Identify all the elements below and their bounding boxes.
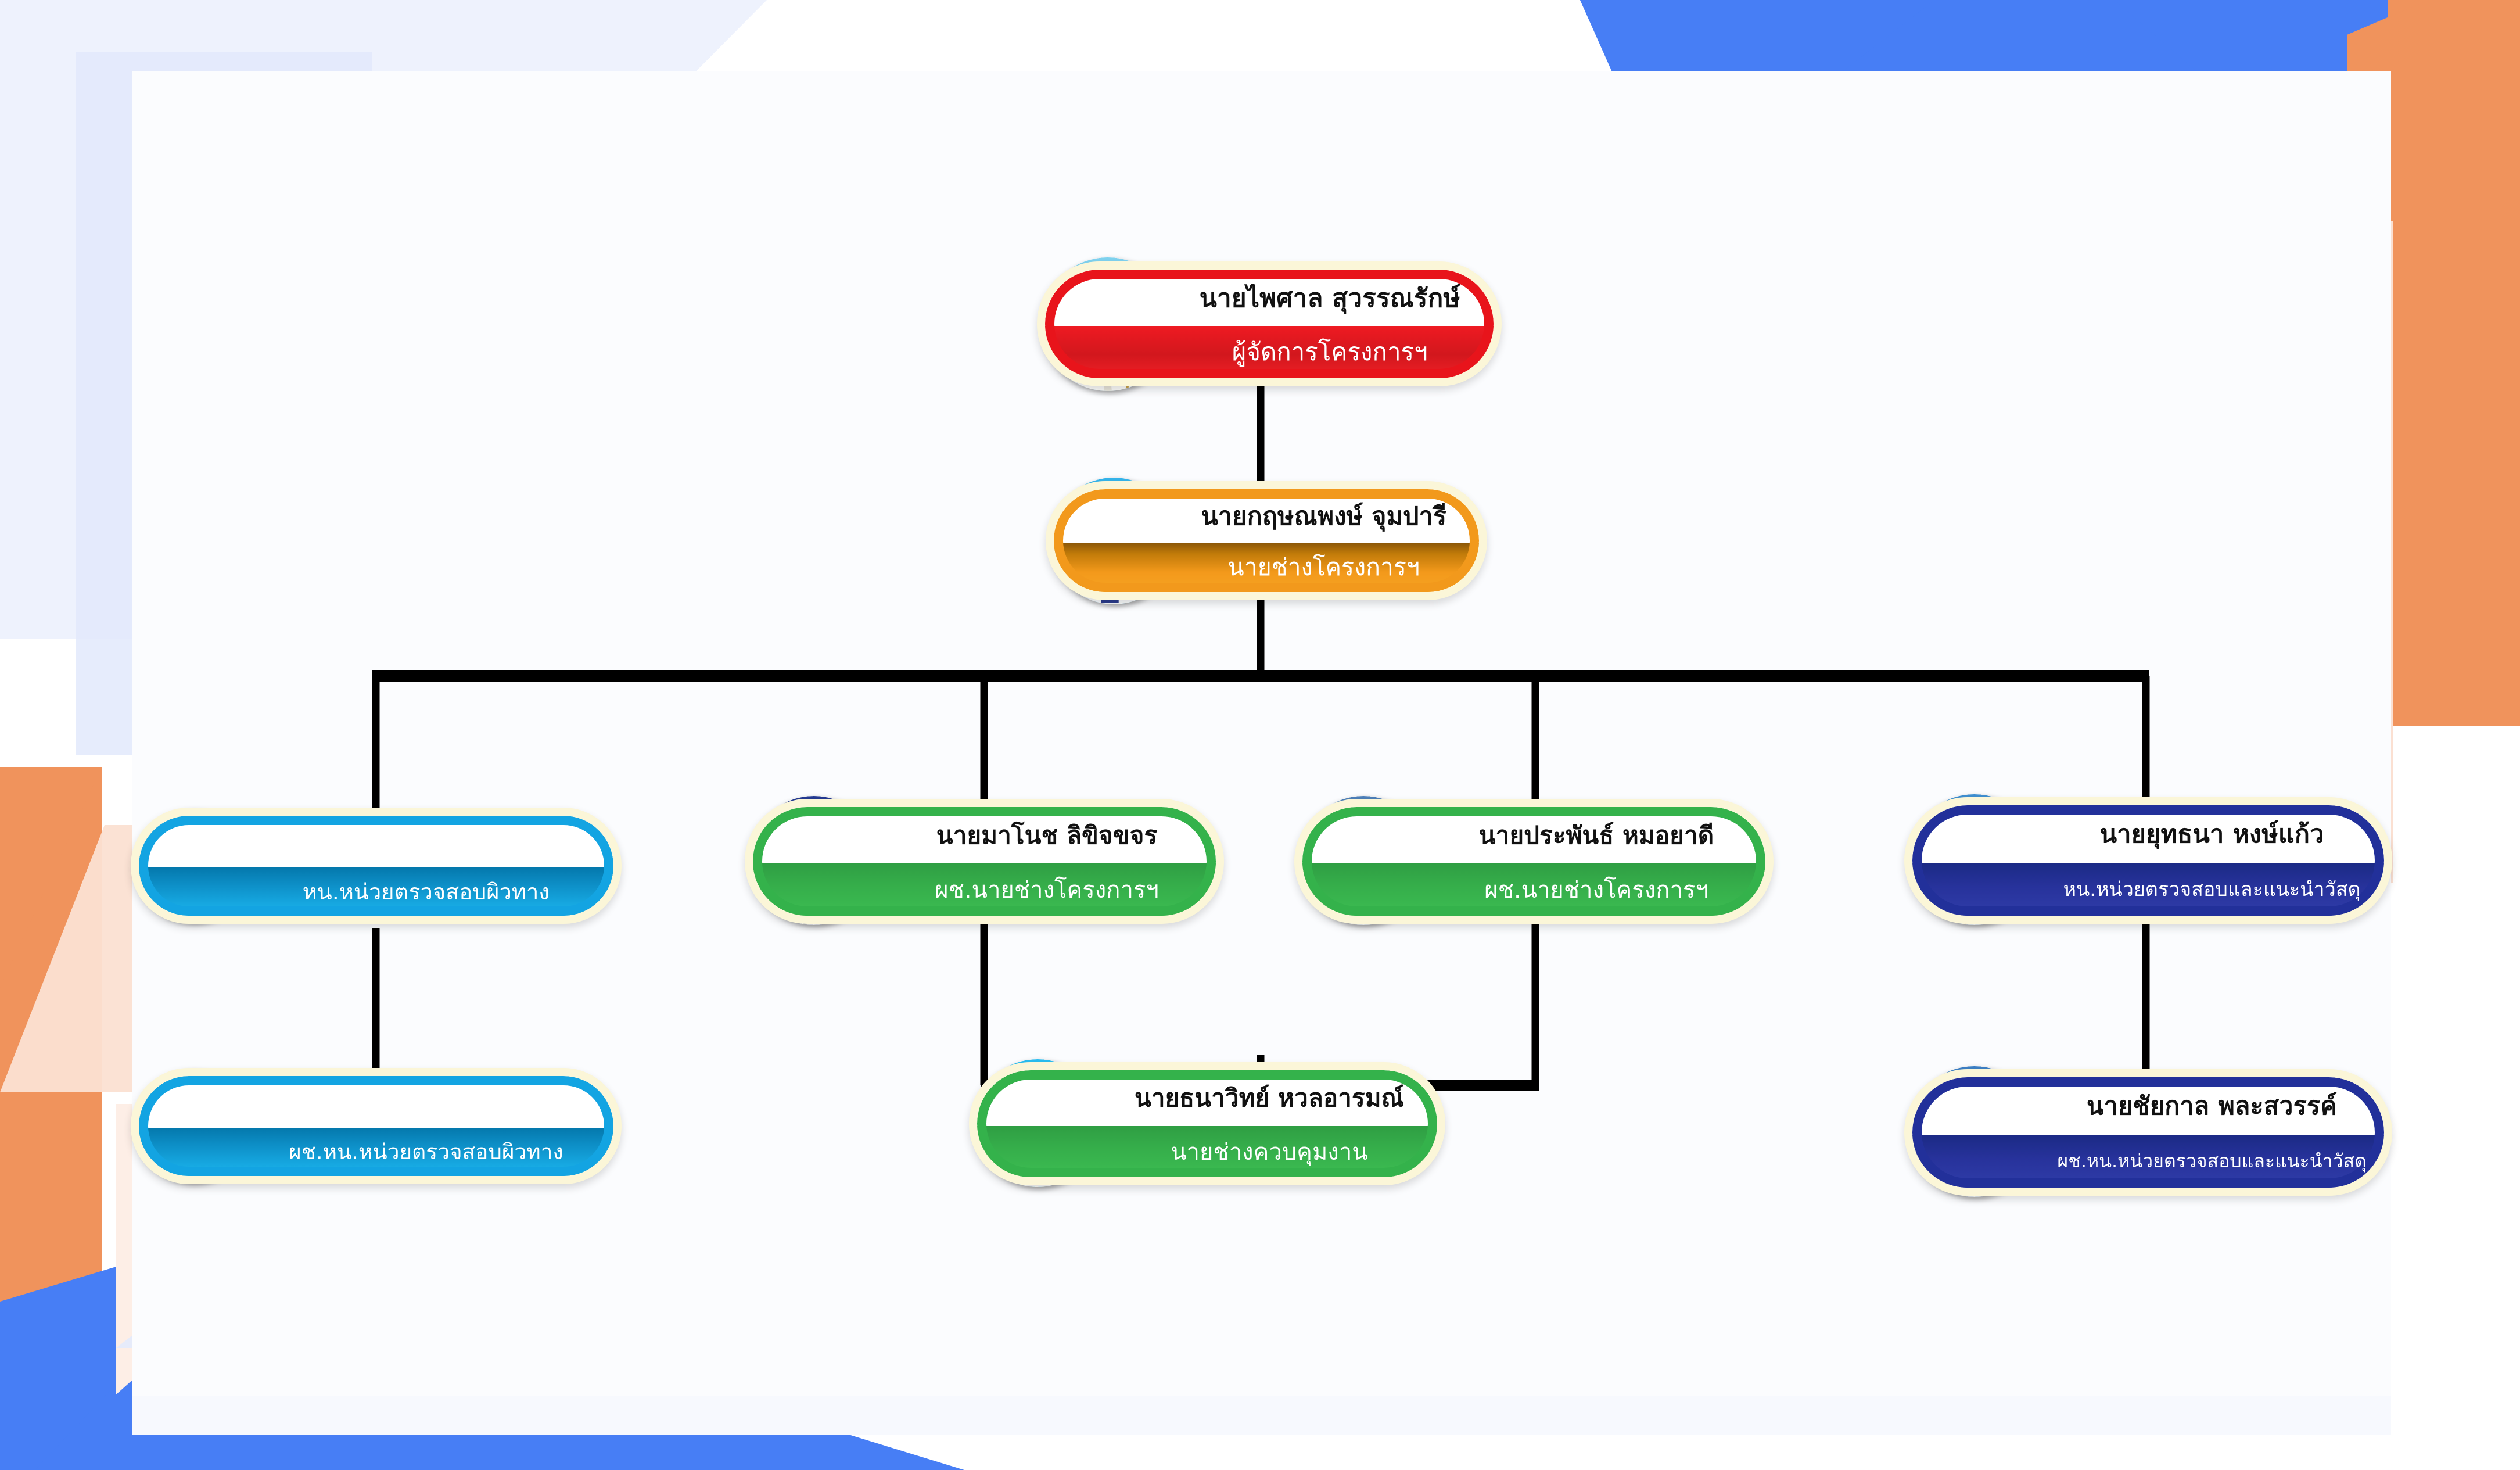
org-node-asst-engineer-1[interactable]: นายมาโนช ลิขิจขจร ผช.นายช่างโครงการฯ <box>745 799 1224 924</box>
org-node-pavement-assistant[interactable]: ผช.หน.หน่วยตรวจสอบผิวทาง <box>131 1068 622 1184</box>
org-node-name: นายชัยกาล พละสวรรค์ <box>1912 1077 2384 1135</box>
org-node-title: หน.หน่วยตรวจสอบและแนะนำวัสดุ <box>1912 863 2384 916</box>
org-node-manager[interactable]: นายไพศาล สุวรรณรักษ์ ผู้จัดการโครงการฯ <box>1037 261 1502 386</box>
org-node-title: ผช.นายช่างโครงการฯ <box>1302 863 1765 916</box>
decor-shape-left-orange <box>0 767 102 1470</box>
org-node-name <box>139 816 613 867</box>
decor-shape-right-orange <box>2388 0 2520 726</box>
org-node-material-head[interactable]: นายยุทธนา หงษ์แก้ว หน.หน่วยตรวจสอบและแนะ… <box>1904 797 2392 924</box>
org-node-title: ผช.นายช่างโครงการฯ <box>753 863 1216 916</box>
org-chart-canvas: นายไพศาล สุวรรณรักษ์ ผู้จัดการโครงการฯ <box>0 0 2520 1470</box>
org-node-name: นายมาโนช ลิขิจขจร <box>753 807 1216 863</box>
org-node-asst-engineer-2[interactable]: นายประพันธ์ หมอยาดี ผช.นายช่างโครงการฯ <box>1294 799 1774 924</box>
org-node-title: ผู้จัดการโครงการฯ <box>1045 326 1494 378</box>
decor-shape-bottom-pale <box>132 1394 2391 1435</box>
org-node-name: นายกฤษณพงษ์ จุมปารี <box>1054 489 1479 543</box>
org-node-title: นายช่างโครงการฯ <box>1054 543 1479 592</box>
org-node-name: นายธนาวิทย์ หวลอารมณ์ <box>977 1070 1437 1126</box>
org-node-pavement-head[interactable]: หน.หน่วยตรวจสอบผิวทาง <box>131 808 622 924</box>
org-node-name: นายยุทธนา หงษ์แก้ว <box>1912 805 2384 863</box>
org-node-title: ผช.หน.หน่วยตรวจสอบและแนะนำวัสดุ <box>1912 1135 2384 1188</box>
org-node-name: นายไพศาล สุวรรณรักษ์ <box>1045 270 1494 326</box>
org-node-site-supervisor[interactable]: นายธนาวิทย์ หวลอารมณ์ นายช่างควบคุมงาน <box>969 1062 1445 1185</box>
org-node-title: ผช.หน.หน่วยตรวจสอบผิวทาง <box>139 1128 613 1176</box>
org-node-material-assistant[interactable]: นายชัยกาล พละสวรรค์ ผช.หน.หน่วยตรวจสอบแล… <box>1904 1069 2392 1196</box>
org-node-name <box>139 1076 613 1128</box>
org-node-title: นายช่างควบคุมงาน <box>977 1126 1437 1177</box>
org-node-project-engineer[interactable]: นายกฤษณพงษ์ จุมปารี นายช่างโครงการฯ <box>1046 481 1487 600</box>
org-node-title: หน.หน่วยตรวจสอบผิวทาง <box>139 867 613 916</box>
org-node-name: นายประพันธ์ หมอยาดี <box>1302 807 1765 863</box>
decor-shape-left-orange-tri <box>0 767 102 988</box>
